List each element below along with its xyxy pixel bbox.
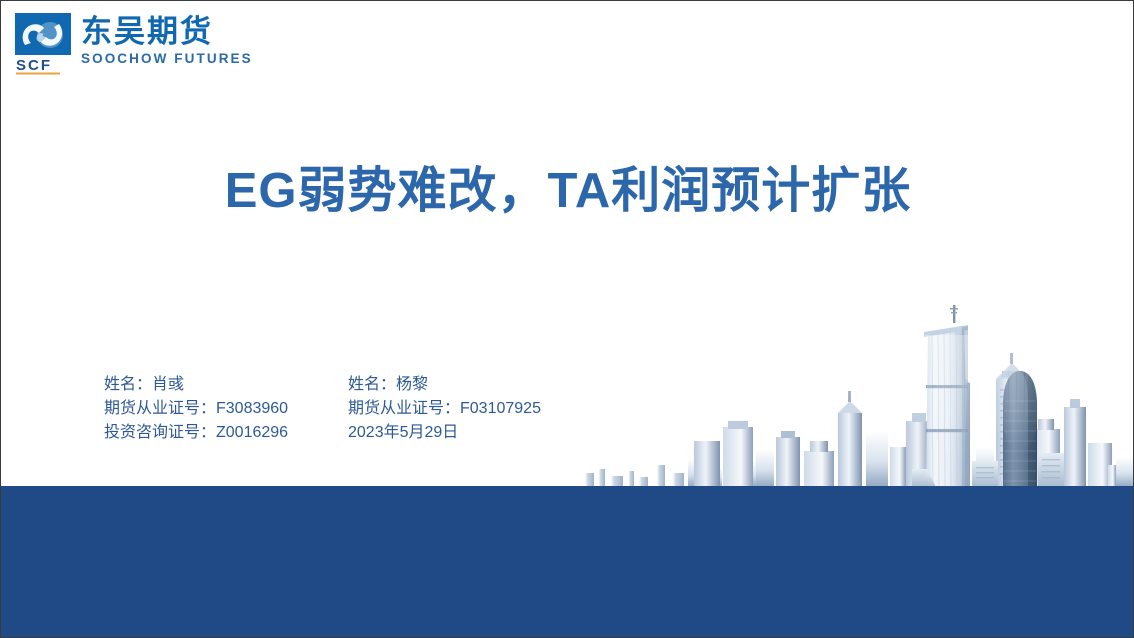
- scf-link-logo-icon: SCF: [15, 13, 71, 75]
- logo-wordmark: 东吴期货 SOOCHOW FUTURES: [81, 13, 253, 67]
- logo-name-cn: 东吴期货: [81, 15, 253, 49]
- bottom-blue-band: [1, 486, 1134, 638]
- author-column-2: 姓名：杨黎 期货从业证号：F03107925 2023年5月29日: [348, 373, 541, 445]
- author-1-advisory-license: 投资咨询证号：Z0016296: [104, 421, 348, 445]
- author-1-name: 姓名：肖彧: [104, 373, 348, 397]
- report-date: 2023年5月29日: [348, 421, 541, 445]
- slide-title: EG弱势难改，TA利润预计扩张: [1, 159, 1134, 223]
- company-logo: SCF 东吴期货 SOOCHOW FUTURES: [15, 13, 253, 75]
- presentation-title-slide: SCF 东吴期货 SOOCHOW FUTURES EG弱势难改，TA利润预计扩张: [0, 0, 1134, 638]
- logo-name-en: SOOCHOW FUTURES: [81, 50, 253, 67]
- author-info-block: 姓名：肖彧 期货从业证号：F3083960 投资咨询证号：Z0016296 姓名…: [104, 373, 541, 445]
- author-column-1: 姓名：肖彧 期货从业证号：F3083960 投资咨询证号：Z0016296: [104, 373, 348, 445]
- svg-text:SCF: SCF: [16, 57, 52, 74]
- author-1-futures-license: 期货从业证号：F3083960: [104, 397, 348, 421]
- author-2-name: 姓名：杨黎: [348, 373, 541, 397]
- author-2-futures-license: 期货从业证号：F03107925: [348, 397, 541, 421]
- city-skyline-reflection: [576, 335, 1134, 487]
